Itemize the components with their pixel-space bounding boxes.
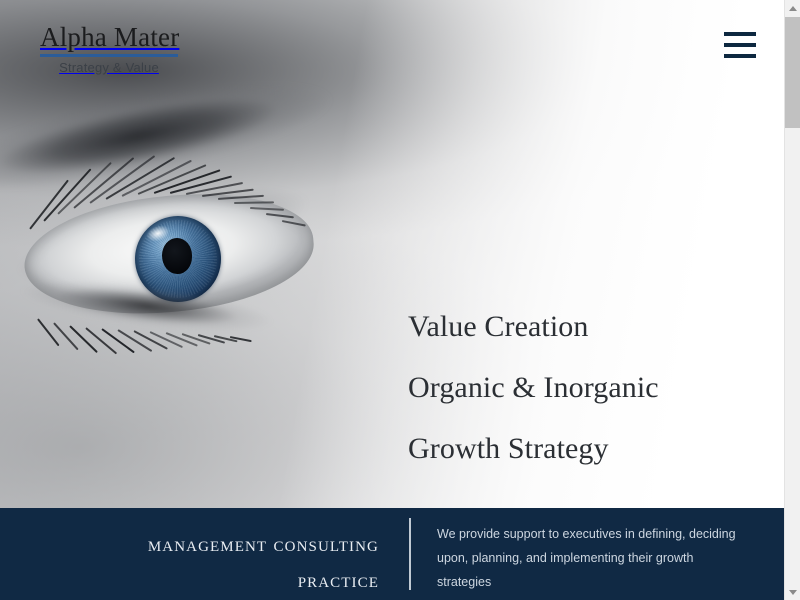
logo-underline-rule bbox=[40, 54, 178, 57]
banner-title-line-1: Management Consulting bbox=[0, 526, 379, 562]
scrollbar-thumb[interactable] bbox=[785, 17, 800, 128]
scroll-down-arrow-glyph bbox=[789, 590, 797, 595]
banner-vertical-divider bbox=[409, 518, 411, 590]
headline-line-3: Growth Strategy bbox=[408, 418, 768, 479]
headline-line-1: Value Creation bbox=[408, 296, 768, 357]
browser-viewport: Value Creation Organic & Inorganic Growt… bbox=[0, 0, 800, 600]
banner-title: Management Consulting Practice bbox=[0, 526, 385, 598]
scroll-down-arrow-icon[interactable] bbox=[785, 583, 800, 600]
hero-headline: Value Creation Organic & Inorganic Growt… bbox=[408, 296, 768, 479]
hamburger-bar-1 bbox=[724, 32, 756, 36]
eyelash-strokes bbox=[0, 150, 340, 360]
hamburger-menu-icon[interactable] bbox=[724, 32, 758, 58]
page-content: Value Creation Organic & Inorganic Growt… bbox=[0, 0, 784, 600]
banner-description: We provide support to executives in defi… bbox=[437, 522, 747, 594]
banner-title-line-2: Practice bbox=[0, 562, 379, 598]
scrollbar-track[interactable] bbox=[785, 128, 800, 583]
hamburger-bar-2 bbox=[724, 43, 756, 47]
logo-tagline: Strategy & Value bbox=[40, 60, 178, 76]
scroll-up-arrow-icon[interactable] bbox=[785, 0, 800, 17]
scroll-up-arrow-glyph bbox=[789, 6, 797, 11]
vertical-scrollbar[interactable] bbox=[784, 0, 800, 600]
site-logo[interactable]: Alpha Mater Strategy & Value bbox=[40, 22, 178, 76]
hamburger-bar-3 bbox=[724, 54, 756, 58]
headline-line-2: Organic & Inorganic bbox=[408, 357, 768, 418]
logo-name: Alpha Mater bbox=[40, 22, 178, 52]
site-header: Alpha Mater Strategy & Value bbox=[0, 0, 784, 96]
